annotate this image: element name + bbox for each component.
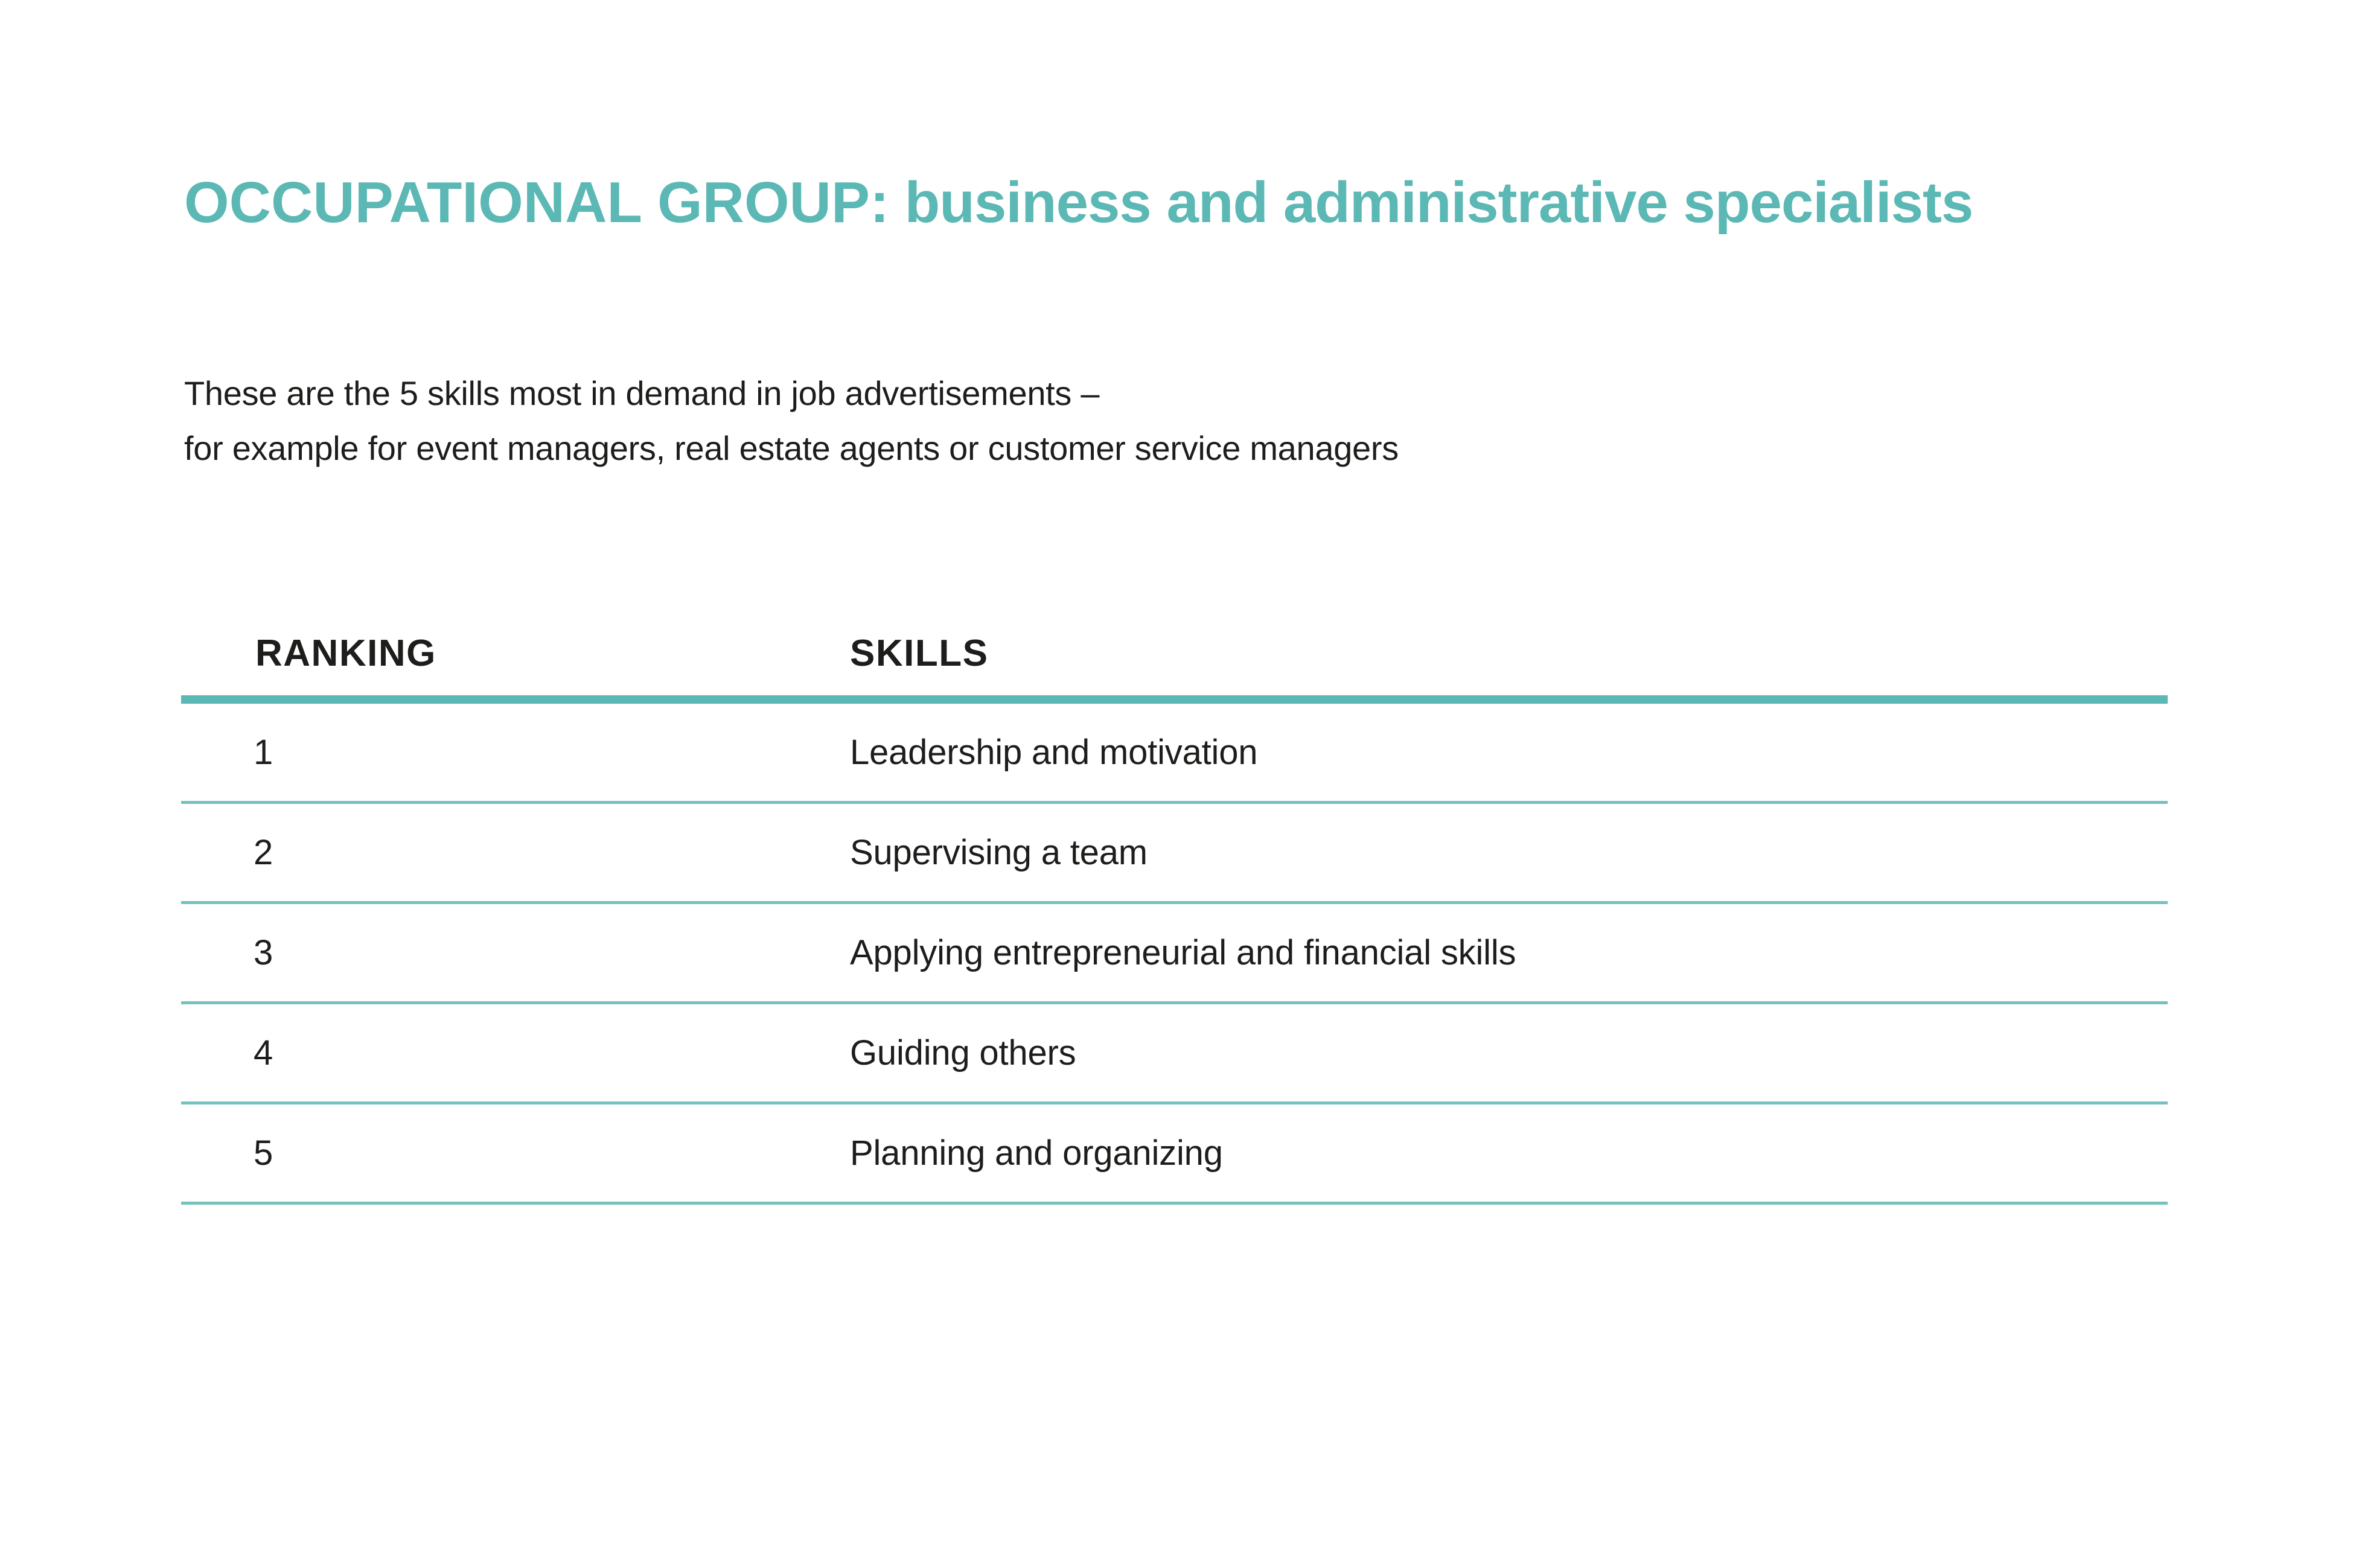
page-title-prefix: OCCUPATIONAL GROUP: [184, 170, 889, 235]
page-subtitle-line-1: These are the 5 skills most in demand in… [184, 366, 2055, 421]
heading-block: OCCUPATIONAL GROUP: business and adminis… [184, 162, 2055, 244]
table-row: 4 Guiding others [181, 1004, 2168, 1101]
page-canvas: OCCUPATIONAL GROUP: business and adminis… [0, 0, 2353, 1568]
page-subtitle-line-2: for example for event managers, real est… [184, 421, 2055, 476]
cell-skill: Supervising a team [785, 832, 2168, 873]
column-header-skills: SKILLS [785, 632, 2168, 695]
cell-skill: Leadership and motivation [785, 732, 2168, 773]
skills-table: RANKING SKILLS 1 Leadership and motivati… [181, 591, 2168, 1205]
table-bottom-rule [181, 1202, 2168, 1205]
cell-skill: Planning and organizing [785, 1133, 2168, 1173]
cell-ranking: 1 [181, 732, 785, 773]
cell-ranking: 5 [181, 1133, 785, 1173]
table-row: 2 Supervising a team [181, 804, 2168, 901]
page-title: OCCUPATIONAL GROUP: business and adminis… [184, 162, 2007, 244]
cell-ranking: 4 [181, 1033, 785, 1073]
table-header-rule [181, 695, 2168, 704]
table-row: 3 Applying entrepreneurial and financial… [181, 904, 2168, 1001]
table-row: 1 Leadership and motivation [181, 704, 2168, 801]
page-subtitle: These are the 5 skills most in demand in… [184, 366, 2055, 476]
cell-ranking: 2 [181, 832, 785, 873]
column-header-ranking: RANKING [181, 632, 785, 695]
cell-skill: Guiding others [785, 1033, 2168, 1073]
table-header-row: RANKING SKILLS [181, 591, 2168, 695]
page-title-subject: business and administrative specialists [889, 170, 1973, 235]
cell-ranking: 3 [181, 932, 785, 973]
table-row: 5 Planning and organizing [181, 1104, 2168, 1202]
cell-skill: Applying entrepreneurial and financial s… [785, 932, 2168, 973]
